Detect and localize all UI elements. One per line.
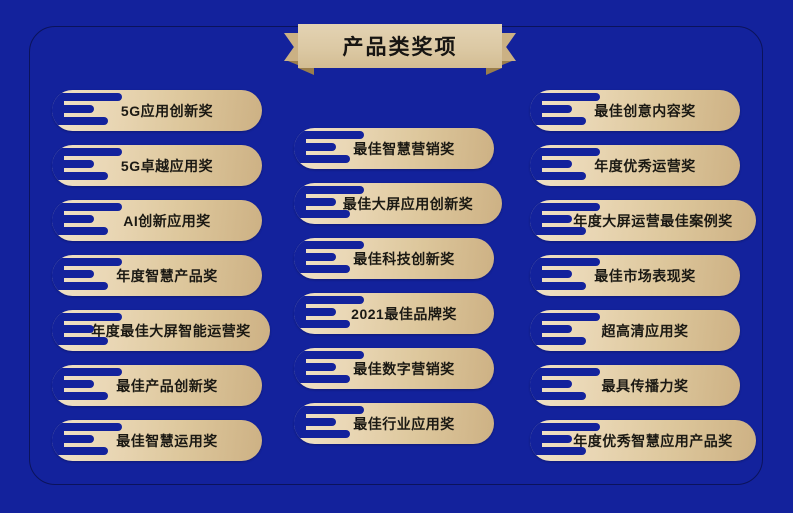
award-pill-label: 最佳市场表现奖: [568, 266, 702, 286]
award-pill[interactable]: 年度优秀运营奖: [530, 145, 740, 186]
award-pill-label: 5G应用创新奖: [95, 101, 219, 121]
award-pill[interactable]: 最佳行业应用奖: [294, 403, 494, 444]
award-pill-label: 最佳创意内容奖: [568, 101, 702, 121]
award-pill[interactable]: 年度最佳大屏智能运营奖: [52, 310, 270, 351]
award-pill-label: 年度优秀智慧应用产品奖: [547, 431, 739, 451]
ribbon-fold-left: [298, 68, 314, 75]
award-pill[interactable]: 年度大屏运营最佳案例奖: [530, 200, 756, 241]
award-pill[interactable]: 5G应用创新奖: [52, 90, 262, 131]
award-pill[interactable]: 最佳市场表现奖: [530, 255, 740, 296]
page-title: 产品类奖项: [298, 24, 502, 68]
award-pill[interactable]: 最佳数字营销奖: [294, 348, 494, 389]
award-pill[interactable]: 年度优秀智慧应用产品奖: [530, 420, 756, 461]
award-pill-label: 年度智慧产品奖: [90, 266, 224, 286]
award-pill-label: 2021最佳品牌奖: [325, 304, 463, 324]
middle-award-column: 最佳智慧营销奖最佳大屏应用创新奖最佳科技创新奖2021最佳品牌奖最佳数字营销奖最…: [294, 128, 502, 458]
award-pill-label: 最佳产品创新奖: [90, 376, 224, 396]
award-pill[interactable]: 最佳科技创新奖: [294, 238, 494, 279]
award-pill[interactable]: 超高清应用奖: [530, 310, 740, 351]
award-pill-label: 年度最佳大屏智能运营奖: [65, 321, 257, 341]
ribbon-body: 产品类奖项: [298, 24, 502, 68]
award-pill[interactable]: 5G卓越应用奖: [52, 145, 262, 186]
award-pill-label: 5G卓越应用奖: [95, 156, 219, 176]
award-pill[interactable]: 年度智慧产品奖: [52, 255, 262, 296]
right-award-column: 最佳创意内容奖年度优秀运营奖年度大屏运营最佳案例奖最佳市场表现奖超高清应用奖最具…: [530, 90, 756, 475]
left-award-column: 5G应用创新奖5G卓越应用奖AI创新应用奖年度智慧产品奖年度最佳大屏智能运营奖最…: [52, 90, 270, 475]
award-pill-label: 最佳智慧运用奖: [90, 431, 224, 451]
award-pill[interactable]: 最具传播力奖: [530, 365, 740, 406]
award-pill[interactable]: 2021最佳品牌奖: [294, 293, 494, 334]
award-pill-label: 最佳大屏应用创新奖: [317, 194, 480, 214]
award-pill[interactable]: 最佳智慧运用奖: [52, 420, 262, 461]
award-pill-label: 最具传播力奖: [576, 376, 695, 396]
award-pill-label: 最佳行业应用奖: [327, 414, 461, 434]
ribbon-fold-right: [486, 68, 502, 75]
award-pill[interactable]: 最佳产品创新奖: [52, 365, 262, 406]
award-pill[interactable]: AI创新应用奖: [52, 200, 262, 241]
award-pill[interactable]: 最佳大屏应用创新奖: [294, 183, 502, 224]
award-pill-label: 年度优秀运营奖: [568, 156, 702, 176]
award-pill-label: AI创新应用奖: [97, 211, 217, 231]
award-poster: 产品类奖项 5G应用创新奖5G卓越应用奖AI创新应用奖年度智慧产品奖年度最佳大屏…: [0, 0, 793, 513]
award-pill-label: 年度大屏运营最佳案例奖: [547, 211, 739, 231]
award-pill[interactable]: 最佳创意内容奖: [530, 90, 740, 131]
award-pill-label: 最佳科技创新奖: [327, 249, 461, 269]
award-pill-label: 最佳数字营销奖: [327, 359, 461, 379]
award-pill-label: 超高清应用奖: [576, 321, 695, 341]
award-pill[interactable]: 最佳智慧营销奖: [294, 128, 494, 169]
award-pill-label: 最佳智慧营销奖: [327, 139, 461, 159]
title-ribbon-banner: 产品类奖项: [284, 24, 516, 68]
